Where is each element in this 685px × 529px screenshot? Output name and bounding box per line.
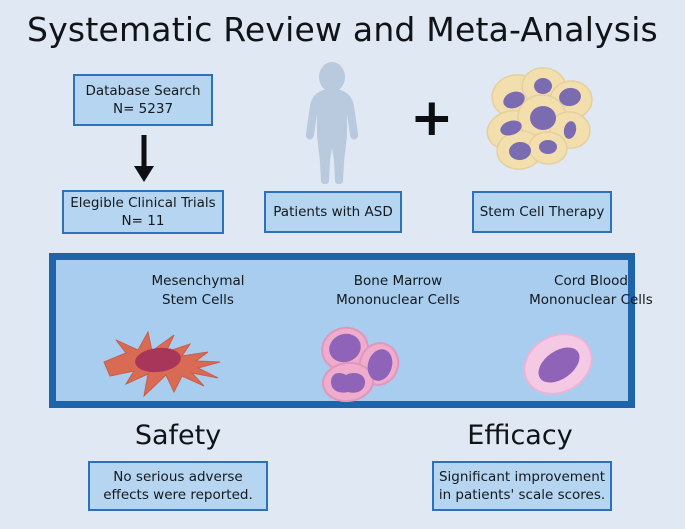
mesenchymal-line1: Mesenchymal	[98, 272, 298, 291]
bone-marrow-mononuclear-cells-icon	[303, 326, 413, 404]
cord-blood-line2: Mononuclear Cells	[491, 291, 685, 310]
box-stem-cell-therapy: Stem Cell Therapy	[472, 191, 612, 233]
heading-safety: Safety	[98, 420, 258, 451]
stem-cell-cluster-icon	[478, 62, 598, 172]
infographic-canvas: Systematic Review and Meta-Analysis Data…	[0, 0, 685, 529]
plus-sign-icon: +	[410, 96, 452, 142]
down-arrow-icon	[133, 135, 155, 183]
mesenchymal-stem-cell-icon	[86, 326, 236, 404]
box-safety-result: No serious adverse effects were reported…	[88, 461, 268, 511]
stem-cell-therapy-label: Stem Cell Therapy	[480, 203, 605, 221]
cell-type-cord-blood: Cord Blood Mononuclear Cells	[491, 272, 685, 310]
box-eligible-clinical-trials: Elegible Clinical Trials N= 11	[62, 190, 224, 234]
box-patients-with-asd: Patients with ASD	[264, 191, 402, 233]
eligible-trials-count: N= 11	[122, 212, 165, 230]
heading-efficacy: Efficacy	[440, 420, 600, 451]
patients-asd-label: Patients with ASD	[273, 203, 392, 221]
mesenchymal-line2: Stem Cells	[98, 291, 298, 310]
database-search-count: N= 5237	[113, 100, 173, 118]
eligible-trials-label: Elegible Clinical Trials	[70, 194, 215, 212]
cell-type-mesenchymal: Mesenchymal Stem Cells	[98, 272, 298, 310]
cord-blood-line1: Cord Blood	[491, 272, 685, 291]
efficacy-result-line2: in patients' scale scores.	[439, 486, 605, 504]
cell-types-panel: Mesenchymal Stem Cells Bone Marrow Monon…	[49, 253, 635, 408]
safety-result-line2: effects were reported.	[103, 486, 253, 504]
cell-type-bone-marrow: Bone Marrow Mononuclear Cells	[298, 272, 498, 310]
box-database-search: Database Search N= 5237	[73, 74, 213, 126]
safety-result-line1: No serious adverse	[113, 468, 242, 486]
person-silhouette-icon	[297, 62, 367, 184]
cord-blood-mononuclear-cell-icon	[503, 326, 613, 404]
box-efficacy-result: Significant improvement in patients' sca…	[432, 461, 612, 511]
efficacy-result-line1: Significant improvement	[439, 468, 605, 486]
bone-marrow-line1: Bone Marrow	[298, 272, 498, 291]
bone-marrow-line2: Mononuclear Cells	[298, 291, 498, 310]
database-search-label: Database Search	[85, 82, 200, 100]
page-title: Systematic Review and Meta-Analysis	[0, 10, 685, 49]
